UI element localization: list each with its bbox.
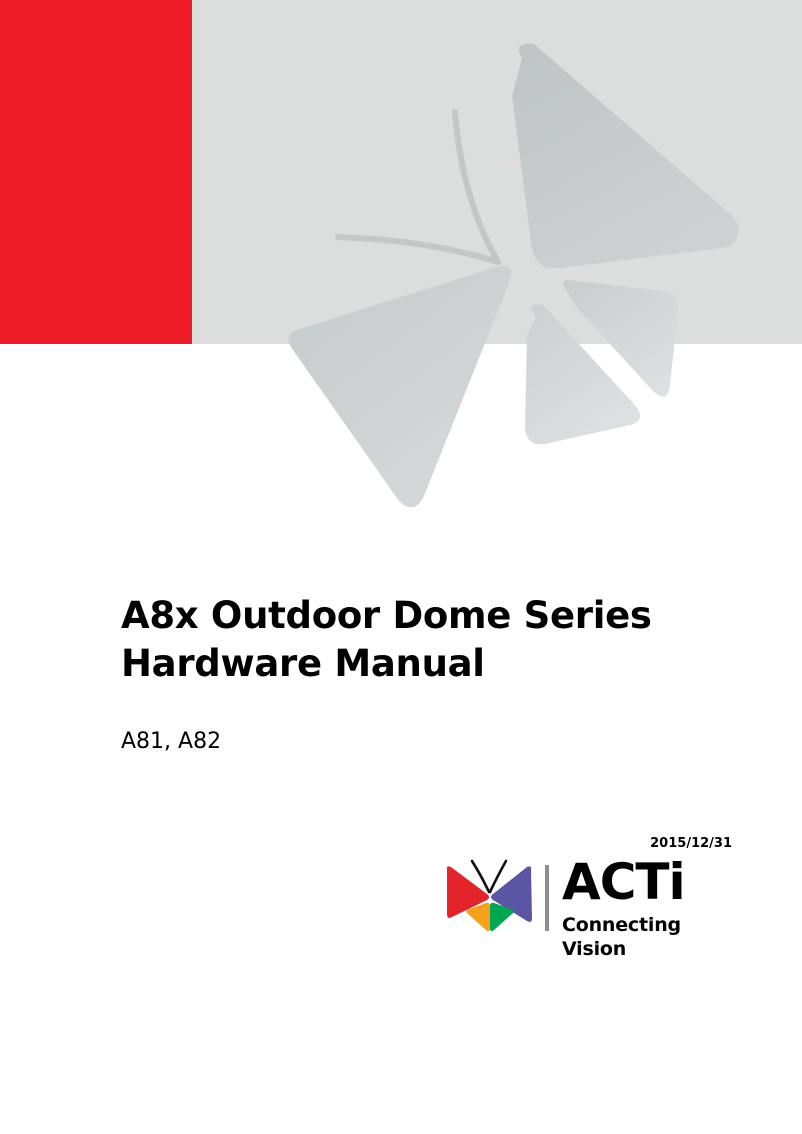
release-date: 2015/12/31: [650, 836, 732, 852]
logo-divider: [545, 865, 549, 931]
acti-butterfly-icon: [442, 859, 538, 935]
brand-lockup: 2015/12/31 ACTi Connecting Vision: [442, 836, 732, 946]
title-block: A8x Outdoor Dome Series Hardware Manual …: [121, 592, 721, 756]
logo-wordmark: ACTi Connecting Vision: [562, 855, 732, 947]
brand-tagline: Connecting Vision: [562, 909, 732, 961]
accent-red-bar: [0, 0, 192, 344]
page-title: A8x Outdoor Dome Series Hardware Manual: [121, 592, 721, 688]
cover-page: A8x Outdoor Dome Series Hardware Manual …: [0, 0, 802, 1134]
brand-name: ACTi: [562, 855, 732, 909]
logo-row: ACTi Connecting Vision: [442, 855, 732, 947]
model-list: A81, A82: [121, 688, 721, 756]
